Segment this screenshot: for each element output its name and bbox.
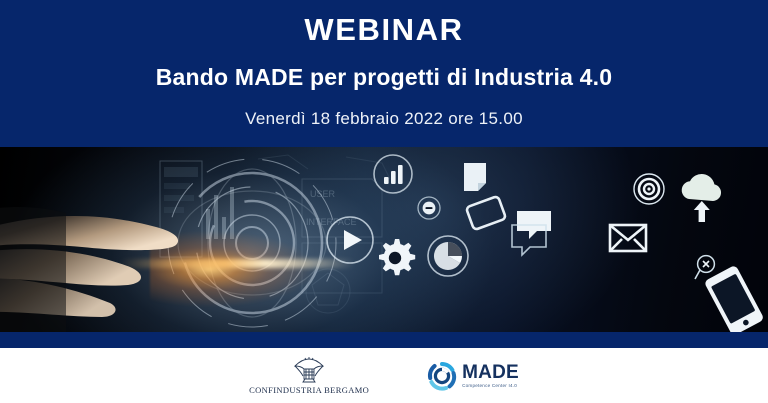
made-circle-icon	[427, 361, 457, 391]
logo-row: CONFINDUSTRIA BERGAMO MADE Competence Ce…	[0, 348, 768, 403]
play-circle-icon	[325, 215, 375, 265]
made-subtitle: Competence Center I4.0	[462, 384, 519, 389]
confindustria-bergamo-logo: CONFINDUSTRIA BERGAMO	[249, 357, 369, 395]
made-name: MADE	[462, 363, 519, 382]
bar-chart-icon	[372, 153, 414, 195]
tablet-icon	[464, 195, 508, 231]
speech-bubble-outline-icon	[508, 219, 552, 261]
envelope-icon	[608, 222, 648, 254]
event-datetime: Venerdì 18 febbraio 2022 ore 15.00	[245, 110, 523, 129]
smartphone-icon	[700, 265, 768, 332]
made-logo: MADE Competence Center I4.0	[427, 361, 519, 391]
footer-band	[0, 332, 768, 348]
page-title: Bando MADE per progetti di Industria 4.0	[156, 65, 613, 90]
gear-icon	[372, 235, 418, 281]
target-icon	[632, 172, 666, 206]
made-wordmark: MADE Competence Center I4.0	[462, 363, 519, 389]
poster-header: WEBINAR Bando MADE per progetti di Indus…	[0, 0, 768, 147]
webinar-poster: WEBINAR Bando MADE per progetti di Indus…	[0, 0, 768, 403]
floating-icons-layer	[0, 147, 768, 332]
eagle-crest-icon	[292, 357, 326, 383]
confindustria-bergamo-label: CONFINDUSTRIA BERGAMO	[249, 385, 369, 395]
cloud-upload-icon	[675, 169, 729, 227]
note-icon	[460, 161, 490, 195]
hero-image: USER INTERFACE	[0, 147, 768, 332]
pie-chart-icon	[426, 234, 470, 278]
kicker-label: WEBINAR	[304, 14, 463, 47]
minus-circle-icon	[416, 195, 442, 221]
